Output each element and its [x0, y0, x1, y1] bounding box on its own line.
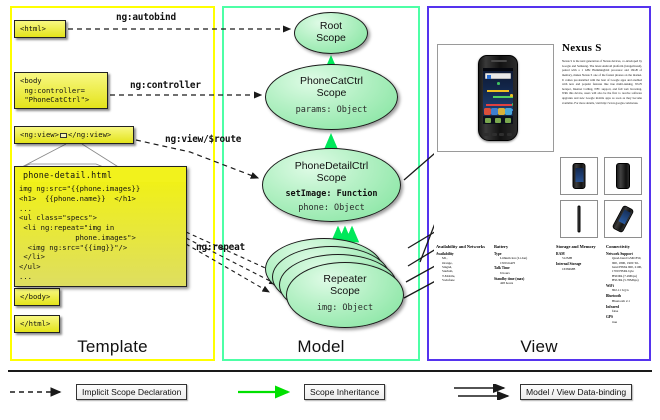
code-html-open: <html> [14, 20, 66, 38]
app-icon-4 [505, 108, 512, 115]
scope-phonedetailctrl-prop-setimage: setImage: Function [263, 185, 400, 199]
phone-speaker [491, 60, 507, 62]
dock-icon-2 [495, 118, 501, 123]
thumbnail-phone-side[interactable] [560, 200, 598, 238]
phone-status-bar [483, 68, 513, 71]
wallpaper-line-1 [487, 90, 509, 92]
code-ngview: <ng:view></ng:view> [14, 126, 134, 144]
dashed-arrow-icon [8, 384, 70, 400]
thumbnail-image-2 [616, 163, 630, 189]
app-icon-2 [491, 108, 498, 115]
wallpaper-line-3 [486, 104, 512, 106]
phone-hero-image [478, 55, 518, 141]
phone-search-widget [485, 73, 511, 79]
legend-label-implicit: Implicit Scope Declaration [76, 384, 187, 400]
search-icon [487, 75, 491, 79]
phone-button-home [507, 133, 512, 136]
spec-column-storage: Storage and Memory RAM 512MB Internal St… [556, 244, 606, 271]
scope-phonedetailctrl: PhoneDetailCtrl Scope setImage: Function… [262, 148, 401, 222]
phone-screen [483, 68, 513, 124]
scope-root-title-line-2: Scope [295, 33, 367, 45]
dock-icon-3 [505, 118, 511, 123]
spec-val-1-0-1: 1500 mAH [494, 261, 554, 265]
scope-phonedetailctrl-title-line-1: PhoneDetailCtrl [263, 161, 400, 173]
template-callout-phone-detail: phone-detail.html img ng:src="{{phone.im… [14, 166, 187, 287]
thumbnail-phone-back[interactable] [604, 157, 642, 195]
spec-val-3-4-0: true [606, 320, 644, 324]
wallpaper-dot-1 [497, 82, 500, 85]
spec-val-2-1-0: 16384MB [556, 267, 606, 271]
spec-heading-1: Battery [494, 244, 554, 250]
phone-app-icons [484, 108, 512, 115]
spec-val-3-0-0: Quad-band GSM 850, [606, 256, 644, 260]
legend-label-inheritance: Scope Inheritance [304, 384, 385, 400]
legend-item-implicit-scope-declaration: Implicit Scope Declaration [8, 382, 187, 402]
view-phone-title: Nexus S [562, 42, 602, 54]
phone-hero-image-frame [437, 44, 554, 152]
scope-root: Root Scope [294, 12, 368, 54]
phone-dock [483, 116, 513, 124]
legend-divider [8, 370, 652, 372]
spec-val-3-3-0: false [606, 309, 644, 313]
panel-template-title: Template [12, 337, 213, 357]
spec-column-availability: Availability and Networks Availability M… [436, 244, 492, 282]
scope-repeater: Repeater Scope img: Object [286, 262, 404, 328]
app-icon-1 [484, 108, 491, 115]
code-html-close: </html> [14, 315, 60, 333]
spec-val-0-0-6: Vodafone [436, 278, 492, 282]
scope-phonedetailctrl-prop-phone: phone: Object [263, 199, 400, 213]
diagram-canvas: Template Model View [0, 0, 660, 420]
scope-phonecatctrl-prop-params: params: Object [266, 100, 397, 115]
thumbnail-phone-front[interactable] [560, 157, 598, 195]
scope-repeater-title-line-2: Scope [287, 286, 403, 298]
spec-column-connectivity: Connectivity Network Support Quad-band G… [606, 244, 644, 324]
spec-val-3-0-5: HSUPA (5.76Mbps) [606, 278, 644, 282]
ngview-open-tag: <ng:view> [20, 130, 59, 139]
scope-root-title-line-1: Root [295, 21, 367, 33]
phone-button-search [499, 133, 504, 136]
phone-button-menu [492, 133, 497, 136]
edge-label-ng-repeat: ng:repeat [196, 242, 245, 253]
ngview-close-tag: </ng:view> [68, 130, 111, 139]
scope-phonedetailctrl-title-line-2: Scope [263, 173, 400, 185]
ngview-placeholder-icon [60, 133, 67, 138]
thumbnail-image-3 [578, 206, 581, 233]
spec-column-battery: Battery Type Lithium Ion (Li-Ion) 1500 m… [494, 244, 554, 286]
callout-code: img ng:src="{{phone.images}} <h1> {{phon… [15, 182, 186, 286]
scope-repeater-prop-img: img: Object [287, 298, 403, 313]
legend-item-scope-inheritance: Scope Inheritance [236, 382, 385, 402]
scope-phonecatctrl: PhoneCatCtrl Scope params: Object [265, 64, 398, 130]
thumbnail-image-4 [612, 205, 635, 234]
scope-phonecatctrl-title-line-2: Scope [266, 88, 397, 100]
edge-label-ng-controller: ng:controller [130, 80, 201, 91]
spec-heading-2: Storage and Memory [556, 244, 606, 250]
phone-hardware-buttons [483, 131, 513, 137]
code-body-open: <body ng:controller= "PhoneCatCtrl"> [14, 72, 108, 109]
wallpaper-dot-3 [512, 103, 513, 106]
phone-button-back [484, 133, 489, 136]
view-phone-description: Nexus S is the next generation of Nexus … [562, 59, 642, 105]
callout-filename: phone-detail.html [15, 167, 186, 182]
spec-val-2-0-0: 512MB [556, 256, 606, 260]
dock-icon-1 [485, 118, 491, 123]
scope-repeater-title-line-1: Repeater [287, 274, 403, 286]
view-rendered-page: Nexus S Nexus S is the next generation o… [434, 14, 644, 340]
edge-label-ng-view-route: ng:view/$route [165, 134, 241, 145]
panel-view-title: View [429, 337, 649, 357]
spec-val-1-1-0: 6 hours [494, 271, 554, 275]
legend-label-databinding: Model / View Data-binding [520, 384, 632, 400]
wallpaper-dot-2 [510, 94, 513, 97]
edge-label-ng-autobind: ng:autobind [116, 12, 176, 23]
app-icon-3 [498, 108, 505, 115]
spec-heading-0: Availability and Networks [436, 244, 492, 250]
spec-val-3-1-0: 802.11 b/g/n [606, 288, 644, 292]
spec-heading-3: Connectivity [606, 244, 644, 250]
legend-item-model-view-data-binding: Model / View Data-binding [452, 382, 632, 402]
double-arrow-icon [452, 384, 514, 400]
green-arrow-icon [236, 384, 298, 400]
code-body-close: </body> [14, 288, 60, 306]
thumbnail-phone-angle[interactable] [604, 200, 642, 238]
spec-val-1-2-0: 428 hours [494, 281, 554, 285]
thumbnail-image-1 [573, 163, 586, 189]
spec-val-3-2-0: Bluetooth 2.1 [606, 299, 644, 303]
panel-model-title: Model [224, 337, 418, 357]
scope-phonecatctrl-title-line-1: PhoneCatCtrl [266, 76, 397, 88]
